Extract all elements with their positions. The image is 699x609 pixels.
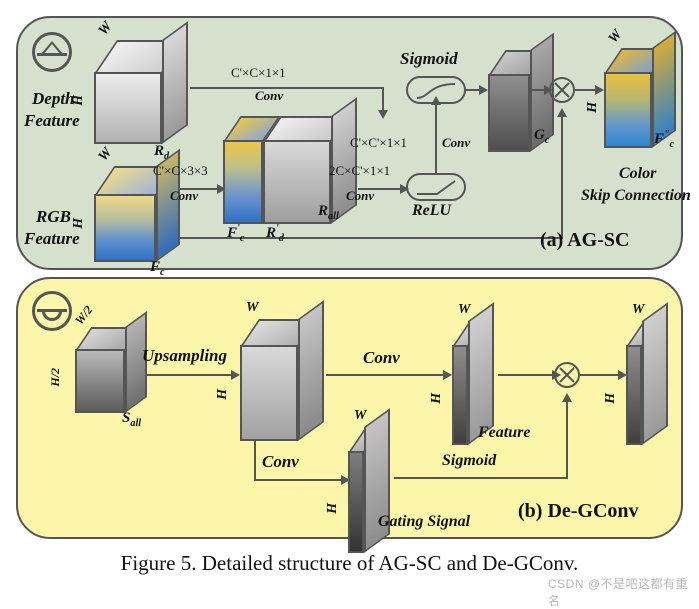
depth-cube-dim-w: W (97, 20, 116, 39)
panel-b-title: (b) De-GConv (518, 501, 639, 522)
feature-slab-dim-w: W (458, 303, 470, 318)
rgb-feature-label-2: Feature (24, 230, 80, 248)
multiply-node-a (549, 77, 575, 103)
depth-cube-dim-h: H (72, 95, 87, 106)
r-all-block-label: Rall (318, 204, 339, 223)
rgb-feature-label-1: RGB (36, 208, 71, 226)
sigmoid-edge-label: Sigmoid (442, 453, 496, 470)
depth-conv-label-bottom: Conv (255, 89, 283, 103)
relu-sigmoid-label-top: C'×C'×1×1 (350, 136, 407, 150)
relu-sigmoid-line (435, 104, 437, 173)
rgb-cube-label: Fc (150, 260, 165, 279)
multiply-output-arrowhead-a (595, 85, 604, 95)
feature-conv-arrowhead (443, 370, 452, 380)
figure-caption: Figure 5. Detailed structure of AG-SC an… (0, 551, 699, 576)
sigmoid-edge-hline (394, 477, 568, 479)
feature-multiply-line (498, 374, 556, 376)
feature-slab-dim-h: H (430, 393, 445, 404)
upsampled-cube (240, 319, 340, 441)
triangle-in-circle-icon (32, 32, 72, 72)
feature-conv-label: Conv (363, 349, 400, 367)
s-all-dim-h: H/2 (49, 368, 62, 387)
depth-edge-vertical (382, 87, 384, 112)
gating-conv-vline (254, 439, 256, 481)
sigmoid-label: Sigmoid (400, 50, 458, 68)
rgb-cube-dim-h: H (72, 218, 87, 229)
rgb-cube-dim-w: W (97, 146, 116, 165)
depth-cube-rd (94, 40, 190, 144)
feature-conv-line (326, 374, 446, 376)
figure-root: Depth Feature W H Rd C'×C×1×1 Conv RGB F… (0, 0, 699, 599)
multiply-node-b (554, 362, 580, 388)
depth-edge-arrowhead (378, 110, 388, 119)
depth-feature-label-2: Feature (24, 112, 80, 130)
upsampled-dim-h: H (216, 389, 231, 400)
output-cube-dim-h: H (586, 102, 601, 113)
sigmoid-gate-arrowhead (479, 85, 488, 95)
gating-conv-hline (254, 479, 344, 481)
semicircle-in-circle-icon (32, 291, 72, 331)
rgb-cube-fc (94, 166, 190, 262)
upsampling-edge-line (146, 374, 234, 376)
s-all-dim-w: W/2 (73, 304, 95, 328)
sigmoid-node (406, 76, 466, 104)
output-slab-dim-w: W (632, 303, 644, 318)
panel-de-gconv: W/2 H/2 Sall Upsampling W H Conv Conv W (16, 277, 683, 539)
feature-slab-label: Feature (478, 425, 530, 442)
upsampling-edge-arrowhead (231, 370, 240, 380)
r-all-left-label: F'c (227, 224, 244, 245)
output-cube-label: F"c (654, 130, 674, 151)
output-caption-2: Skip Connection (581, 188, 691, 205)
multiply-output-line-b (580, 374, 622, 376)
gating-signal-slab (348, 427, 408, 553)
rgb-conv-label-top: C'×C×3×3 (153, 164, 208, 178)
output-caption-1: Color (619, 166, 656, 183)
sigmoid-edge-arrowhead (562, 393, 572, 402)
gating-slab-dim-h: H (326, 503, 341, 514)
sigmoid-edge-vline (566, 401, 568, 479)
s-all-label: Sall (122, 411, 141, 430)
depth-edge-horizontal (190, 87, 384, 89)
output-slab (626, 321, 684, 445)
concat-conv-label-bottom: Conv (346, 189, 374, 203)
csdn-watermark: CSDN @不是吧这都有重名 (548, 575, 699, 609)
panel-a-title: (a) AG-SC (540, 230, 629, 251)
output-slab-dim-h: H (604, 393, 619, 404)
s-all-cube (75, 327, 157, 413)
gating-conv-label: Conv (262, 453, 299, 471)
gating-slab-dim-w: W (354, 409, 366, 424)
depth-conv-label-top: C'×C×1×1 (231, 66, 286, 80)
relu-node (406, 173, 466, 201)
depth-feature-label-1: Depth (32, 90, 75, 108)
relu-sigmoid-label-bottom: Conv (442, 136, 470, 150)
panel-ag-sc: Depth Feature W H Rd C'×C×1×1 Conv RGB F… (16, 16, 683, 270)
output-cube-dim-w: W (607, 28, 626, 47)
rgb-conv-label-bottom: Conv (170, 189, 198, 203)
upsampled-dim-w: W (246, 301, 258, 316)
gating-slab-label: Gating Signal (378, 514, 470, 531)
concat-conv-label-top: 2C×C'×1×1 (329, 164, 390, 178)
upsampling-edge-label: Upsampling (142, 347, 227, 365)
gate-cube-label: Gc (534, 128, 549, 147)
relu-label: ReLU (412, 203, 451, 220)
r-all-right-label: R'd (266, 224, 284, 245)
skip-connection-vertical (561, 116, 563, 239)
